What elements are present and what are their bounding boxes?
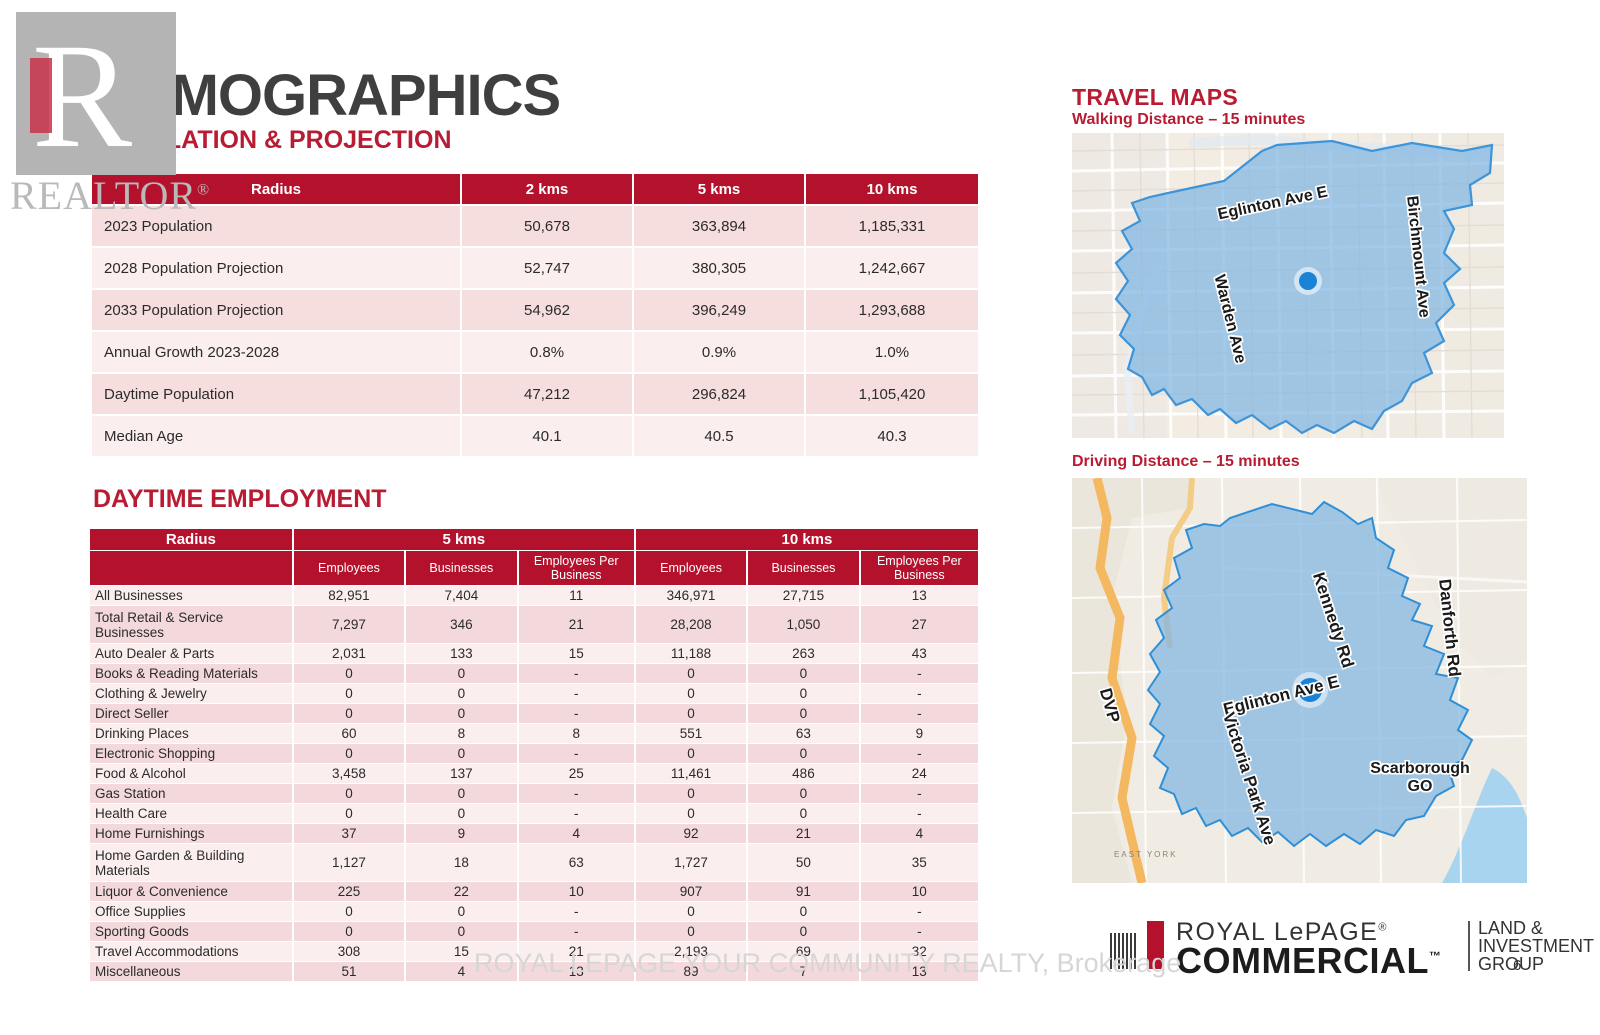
row-label: Total Retail & Service Businesses	[90, 606, 294, 643]
logo-registered-icon: ®	[1378, 922, 1388, 934]
cell-value: 0	[406, 902, 518, 921]
row-label: Electronic Shopping	[90, 744, 294, 763]
cell-value: 137	[406, 764, 518, 783]
column-header-5kms: 5 kms	[634, 174, 806, 204]
cell-value: 7,297	[294, 606, 406, 643]
cell-value: 0	[294, 744, 406, 763]
table-row: 2033 Population Projection54,962396,2491…	[92, 290, 978, 330]
column-header-10kms: 10 kms	[806, 174, 978, 204]
cell-value: 60	[294, 724, 406, 743]
column-header-radius: Radius	[90, 529, 294, 550]
driving-distance-label: Driving Distance – 15 minutes	[1072, 453, 1300, 471]
cell-value: 1,050	[748, 606, 860, 643]
cell-value: 21	[748, 824, 860, 843]
cell-value: 7	[748, 962, 860, 981]
map-label-east-york: EAST YORK	[1114, 850, 1178, 859]
cell-value: 0	[748, 684, 860, 703]
cell-value: 24	[861, 764, 978, 783]
group-header-10kms: 10 kms	[636, 529, 978, 550]
daytime-employment-table: Radius 5 kms 10 kms Employees Businesses…	[90, 528, 978, 982]
row-label: Health Care	[90, 804, 294, 823]
cell-value: 0	[748, 902, 860, 921]
table-row: Sporting Goods00-00-	[90, 922, 978, 941]
table-row: Clothing & Jewelry00-00-	[90, 684, 978, 703]
walking-distance-label: Walking Distance – 15 minutes	[1072, 111, 1305, 129]
cell-value: 0	[406, 704, 518, 723]
cell-value: 308	[294, 942, 406, 961]
cell-value: 396,249	[634, 290, 806, 330]
table-row: Home Furnishings379492214	[90, 824, 978, 843]
table-row: Books & Reading Materials00-00-	[90, 664, 978, 683]
walking-map-graphic	[1072, 133, 1504, 438]
cell-value: -	[861, 684, 978, 703]
cell-value: 1,242,667	[806, 248, 978, 288]
cell-value: -	[861, 704, 978, 723]
table-row: Liquor & Convenience22522109079110	[90, 882, 978, 901]
subheader-spacer	[90, 551, 294, 585]
cell-value: 10	[519, 882, 636, 901]
cell-value: -	[519, 664, 636, 683]
cell-value: 9	[406, 824, 518, 843]
cell-value: 11,188	[636, 644, 748, 663]
subheader-5km-businesses: Businesses	[406, 551, 518, 585]
cell-value: 43	[861, 644, 978, 663]
logo-divider	[1468, 921, 1470, 971]
cell-value: -	[519, 922, 636, 941]
cell-value: 363,894	[634, 206, 806, 246]
row-label: 2028 Population Projection	[92, 248, 462, 288]
column-header-2kms: 2 kms	[462, 174, 634, 204]
table-sub-header-row: Employees Businesses Employees Per Busin…	[90, 551, 978, 585]
row-label: Median Age	[92, 416, 462, 456]
row-label: Drinking Places	[90, 724, 294, 743]
travel-maps-title: TRAVEL MAPS	[1072, 84, 1238, 111]
cell-value: 1.0%	[806, 332, 978, 372]
realtor-red-bar	[30, 58, 52, 133]
row-label: All Businesses	[90, 586, 294, 605]
cell-value: 35	[861, 844, 978, 881]
cell-value: 0	[294, 922, 406, 941]
table-row: 2028 Population Projection52,747380,3051…	[92, 248, 978, 288]
cell-value: 27	[861, 606, 978, 643]
subheader-10km-employees-per-business: Employees Per Business	[861, 551, 978, 585]
cell-value: 89	[636, 962, 748, 981]
cell-value: -	[519, 684, 636, 703]
cell-value: 0	[748, 922, 860, 941]
table-row: Travel Accommodations30815212,1936932	[90, 942, 978, 961]
subheader-5km-employees: Employees	[294, 551, 406, 585]
table-row: Total Retail & Service Businesses7,29734…	[90, 606, 978, 643]
subheader-10km-employees: Employees	[636, 551, 748, 585]
table-row: 2023 Population50,678363,8941,185,331	[92, 206, 978, 246]
cell-value: 63	[519, 844, 636, 881]
cell-value: 25	[519, 764, 636, 783]
row-label: Liquor & Convenience	[90, 882, 294, 901]
cell-value: 4	[861, 824, 978, 843]
daytime-employment-title: DAYTIME EMPLOYMENT	[93, 485, 387, 514]
table-row: Daytime Population47,212296,8241,105,420	[92, 374, 978, 414]
page-subtitle: POPULATION & PROJECTION	[95, 126, 452, 155]
royal-lepage-commercial-logo: ROYAL LePAGE® COMMERCIAL™ LAND & INVESTM…	[1110, 915, 1510, 977]
cell-value: 0	[748, 784, 860, 803]
page-title: DEMOGRAPHICS	[92, 62, 560, 129]
table-row: Annual Growth 2023-20280.8%0.9%1.0%	[92, 332, 978, 372]
logo-commercial-word: COMMERCIAL	[1176, 940, 1429, 981]
logo-commercial-text: COMMERCIAL™	[1176, 940, 1441, 982]
row-label: Food & Alcohol	[90, 764, 294, 783]
cell-value: 13	[861, 586, 978, 605]
cell-value: 54,962	[462, 290, 634, 330]
cell-value: 346,971	[636, 586, 748, 605]
walking-distance-map[interactable]: Eglinton Ave E Warden Ave Birchmount Ave	[1072, 133, 1504, 438]
row-label: 2033 Population Projection	[92, 290, 462, 330]
cell-value: 0	[406, 784, 518, 803]
table-row: Auto Dealer & Parts2,0311331511,18826343	[90, 644, 978, 663]
cell-value: 13	[861, 962, 978, 981]
cell-value: 1,127	[294, 844, 406, 881]
logo-division-line2: INVESTMENT	[1478, 937, 1594, 955]
cell-value: 486	[748, 764, 860, 783]
logo-division-line1: LAND &	[1478, 919, 1594, 937]
cell-value: 0	[748, 744, 860, 763]
cell-value: 32	[861, 942, 978, 961]
cell-value: 0	[406, 684, 518, 703]
cell-value: -	[861, 902, 978, 921]
cell-value: 50	[748, 844, 860, 881]
cell-value: 10	[861, 882, 978, 901]
population-projection-table: Radius 2 kms 5 kms 10 kms 2023 Populatio…	[92, 172, 978, 458]
cell-value: 4	[406, 962, 518, 981]
cell-value: 69	[748, 942, 860, 961]
table-header-row: Radius 2 kms 5 kms 10 kms	[92, 174, 978, 204]
cell-value: 0	[636, 784, 748, 803]
row-label: Direct Seller	[90, 704, 294, 723]
cell-value: 7,404	[406, 586, 518, 605]
cell-value: -	[519, 804, 636, 823]
row-label: Home Furnishings	[90, 824, 294, 843]
cell-value: -	[519, 704, 636, 723]
row-label: Home Garden & Building Materials	[90, 844, 294, 881]
table-row: Office Supplies00-00-	[90, 902, 978, 921]
cell-value: 0	[294, 804, 406, 823]
cell-value: 263	[748, 644, 860, 663]
row-label: Travel Accommodations	[90, 942, 294, 961]
cell-value: -	[861, 784, 978, 803]
cell-value: 40.3	[806, 416, 978, 456]
cell-value: 225	[294, 882, 406, 901]
cell-value: 0	[636, 902, 748, 921]
cell-value: 0	[294, 684, 406, 703]
cell-value: 0.8%	[462, 332, 634, 372]
cell-value: 82,951	[294, 586, 406, 605]
table-row: Electronic Shopping00-00-	[90, 744, 978, 763]
cell-value: 21	[519, 942, 636, 961]
cell-value: 0.9%	[634, 332, 806, 372]
cell-value: 3,458	[294, 764, 406, 783]
cell-value: 63	[748, 724, 860, 743]
cell-value: 4	[519, 824, 636, 843]
page-number: 6	[1513, 957, 1521, 974]
cell-value: 0	[636, 744, 748, 763]
cell-value: -	[519, 744, 636, 763]
logo-red-bar-icon	[1147, 921, 1164, 969]
cell-value: -	[519, 784, 636, 803]
cell-value: 2,193	[636, 942, 748, 961]
logo-division-text: LAND & INVESTMENT GROUP	[1478, 919, 1594, 973]
cell-value: 15	[406, 942, 518, 961]
cell-value: 22	[406, 882, 518, 901]
cell-value: 0	[294, 784, 406, 803]
cell-value: 0	[294, 664, 406, 683]
subheader-5km-employees-per-business: Employees Per Business	[519, 551, 636, 585]
row-label: Books & Reading Materials	[90, 664, 294, 683]
cell-value: 0	[636, 684, 748, 703]
cell-value: 8	[519, 724, 636, 743]
row-label: Clothing & Jewelry	[90, 684, 294, 703]
subheader-10km-businesses: Businesses	[748, 551, 860, 585]
cell-value: 0	[748, 664, 860, 683]
cell-value: 1,727	[636, 844, 748, 881]
driving-distance-map[interactable]: Kennedy Rd Danforth Rd Eglinton Ave E Vi…	[1072, 478, 1527, 883]
table-row: Health Care00-00-	[90, 804, 978, 823]
cell-value: 37	[294, 824, 406, 843]
group-header-5kms: 5 kms	[294, 529, 636, 550]
table-row: Median Age40.140.540.3	[92, 416, 978, 456]
cell-value: 133	[406, 644, 518, 663]
logo-trademark-icon: ™	[1429, 949, 1442, 963]
cell-value: -	[861, 744, 978, 763]
table-row: Direct Seller00-00-	[90, 704, 978, 723]
cell-value: 91	[748, 882, 860, 901]
cell-value: 0	[294, 704, 406, 723]
table-row: Food & Alcohol3,4581372511,46148624	[90, 764, 978, 783]
cell-value: 92	[636, 824, 748, 843]
cell-value: 907	[636, 882, 748, 901]
row-label: 2023 Population	[92, 206, 462, 246]
table-group-header-row: Radius 5 kms 10 kms	[90, 529, 978, 550]
cell-value: 40.1	[462, 416, 634, 456]
cell-value: 15	[519, 644, 636, 663]
driving-map-graphic	[1072, 478, 1527, 883]
cell-value: 0	[294, 902, 406, 921]
cell-value: 0	[636, 704, 748, 723]
cell-value: 0	[636, 922, 748, 941]
cell-value: 8	[406, 724, 518, 743]
cell-value: 11	[519, 586, 636, 605]
cell-value: 13	[519, 962, 636, 981]
cell-value: 1,185,331	[806, 206, 978, 246]
logo-division-line3: GROUP	[1478, 955, 1594, 973]
table-row: Home Garden & Building Materials1,127186…	[90, 844, 978, 881]
cell-value: 27,715	[748, 586, 860, 605]
cell-value: 40.5	[634, 416, 806, 456]
cell-value: -	[861, 664, 978, 683]
logo-bars-icon	[1110, 933, 1140, 969]
row-label: Sporting Goods	[90, 922, 294, 941]
cell-value: -	[861, 922, 978, 941]
row-label: Daytime Population	[92, 374, 462, 414]
cell-value: 52,747	[462, 248, 634, 288]
cell-value: 21	[519, 606, 636, 643]
cell-value: 380,305	[634, 248, 806, 288]
table-row: Miscellaneous5141389713	[90, 962, 978, 981]
row-label: Office Supplies	[90, 902, 294, 921]
cell-value: 11,461	[636, 764, 748, 783]
cell-value: 50,678	[462, 206, 634, 246]
cell-value: 551	[636, 724, 748, 743]
cell-value: 0	[636, 804, 748, 823]
cell-value: 0	[406, 922, 518, 941]
row-label: Miscellaneous	[90, 962, 294, 981]
cell-value: 47,212	[462, 374, 634, 414]
row-label: Gas Station	[90, 784, 294, 803]
cell-value: 0	[406, 804, 518, 823]
table-row: Drinking Places6088551639	[90, 724, 978, 743]
slide-page: DEMOGRAPHICS POPULATION & PROJECTION R R…	[0, 0, 1600, 1035]
cell-value: 346	[406, 606, 518, 643]
cell-value: 0	[406, 664, 518, 683]
row-label: Annual Growth 2023-2028	[92, 332, 462, 372]
cell-value: 1,293,688	[806, 290, 978, 330]
cell-value: 28,208	[636, 606, 748, 643]
cell-value: 18	[406, 844, 518, 881]
row-label: Auto Dealer & Parts	[90, 644, 294, 663]
cell-value: 9	[861, 724, 978, 743]
cell-value: 2,031	[294, 644, 406, 663]
cell-value: -	[861, 804, 978, 823]
cell-value: 0	[636, 664, 748, 683]
column-header-radius: Radius	[92, 174, 462, 204]
cell-value: 0	[748, 804, 860, 823]
table-row: Gas Station00-00-	[90, 784, 978, 803]
table-row: All Businesses82,9517,40411346,97127,715…	[90, 586, 978, 605]
cell-value: 51	[294, 962, 406, 981]
cell-value: 296,824	[634, 374, 806, 414]
cell-value: 0	[406, 744, 518, 763]
cell-value: 0	[748, 704, 860, 723]
cell-value: -	[519, 902, 636, 921]
cell-value: 1,105,420	[806, 374, 978, 414]
